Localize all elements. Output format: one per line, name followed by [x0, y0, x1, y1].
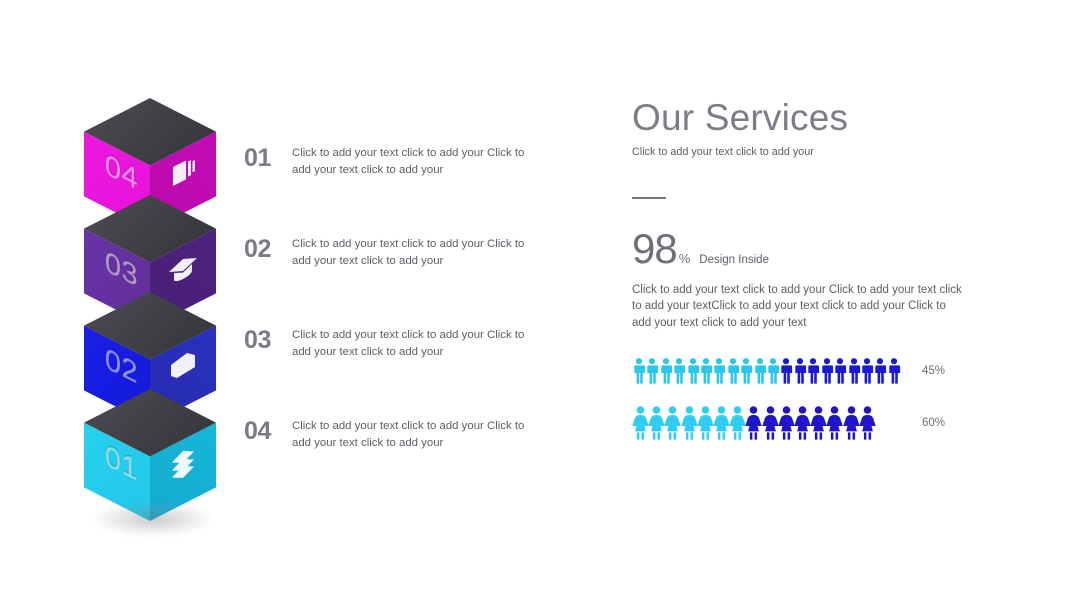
people-row-45-label: 45% [922, 365, 945, 377]
page-title: Our Services [632, 96, 1032, 140]
person-figure [779, 358, 793, 384]
person-figure [672, 358, 686, 384]
steps-list: 01 Click to add your text click to add y… [244, 140, 544, 504]
people-row-45: 45% [632, 358, 1032, 384]
person-figure [726, 358, 740, 384]
step-number-01: 01 [244, 144, 286, 173]
person-figure [859, 406, 876, 440]
person-figure [810, 406, 827, 440]
person-figure [648, 406, 665, 440]
person-figure [739, 358, 753, 384]
step-text-04: Click to add your text click to add your… [292, 418, 544, 451]
body-paragraph: Click to add your text click to add your… [632, 282, 962, 332]
person-figure [766, 358, 780, 384]
person-figure [833, 358, 847, 384]
person-figure [762, 406, 779, 440]
stat-block: 98 % Design Inside [632, 229, 1032, 269]
section-divider [632, 197, 666, 199]
people-pictogram-chart: 45% 60% [632, 358, 1032, 440]
person-figure [793, 358, 807, 384]
person-figure [632, 406, 649, 440]
page-subtitle: Click to add your text click to add your [632, 145, 1032, 160]
step-number-04: 04 [244, 417, 286, 446]
person-figure [887, 358, 901, 384]
person-figure [860, 358, 874, 384]
stat-label: Design Inside [699, 254, 769, 266]
person-figure [686, 358, 700, 384]
step-number-03: 03 [244, 326, 286, 355]
person-figure [645, 358, 659, 384]
person-figure [681, 406, 698, 440]
people-icons-female [632, 406, 904, 440]
person-figure [794, 406, 811, 440]
people-icons-male [632, 358, 904, 384]
stat-percent-symbol: % [679, 251, 691, 266]
step-text-03: Click to add your text click to add your… [292, 327, 544, 360]
person-figure [729, 406, 746, 440]
person-figure [745, 406, 762, 440]
step-text-01: Click to add your text click to add your… [292, 145, 544, 178]
person-figure [697, 406, 714, 440]
stat-number: 98 [632, 229, 677, 269]
step-row-03[interactable]: 03 Click to add your text click to add y… [244, 322, 544, 413]
step-row-04[interactable]: 04 Click to add your text click to add y… [244, 413, 544, 504]
person-figure [826, 406, 843, 440]
people-row-60-label: 60% [922, 417, 945, 429]
person-figure [664, 406, 681, 440]
step-text-02: Click to add your text click to add your… [292, 236, 544, 269]
person-figure [778, 406, 795, 440]
person-figure [632, 358, 646, 384]
step-number-02: 02 [244, 235, 286, 264]
people-row-60: 60% [632, 406, 1032, 440]
person-figure [713, 406, 730, 440]
person-figure [659, 358, 673, 384]
person-figure [847, 358, 861, 384]
cube-stack: 04 03 02 01 [84, 98, 216, 518]
person-figure [712, 358, 726, 384]
step-row-02[interactable]: 02 Click to add your text click to add y… [244, 231, 544, 322]
cube-stack-shadow [93, 502, 213, 536]
person-figure [806, 358, 820, 384]
step-row-01[interactable]: 01 Click to add your text click to add y… [244, 140, 544, 231]
person-figure [820, 358, 834, 384]
person-figure [873, 358, 887, 384]
person-figure [843, 406, 860, 440]
person-figure [753, 358, 767, 384]
right-panel: Our Services Click to add your text clic… [632, 96, 1032, 462]
person-figure [699, 358, 713, 384]
